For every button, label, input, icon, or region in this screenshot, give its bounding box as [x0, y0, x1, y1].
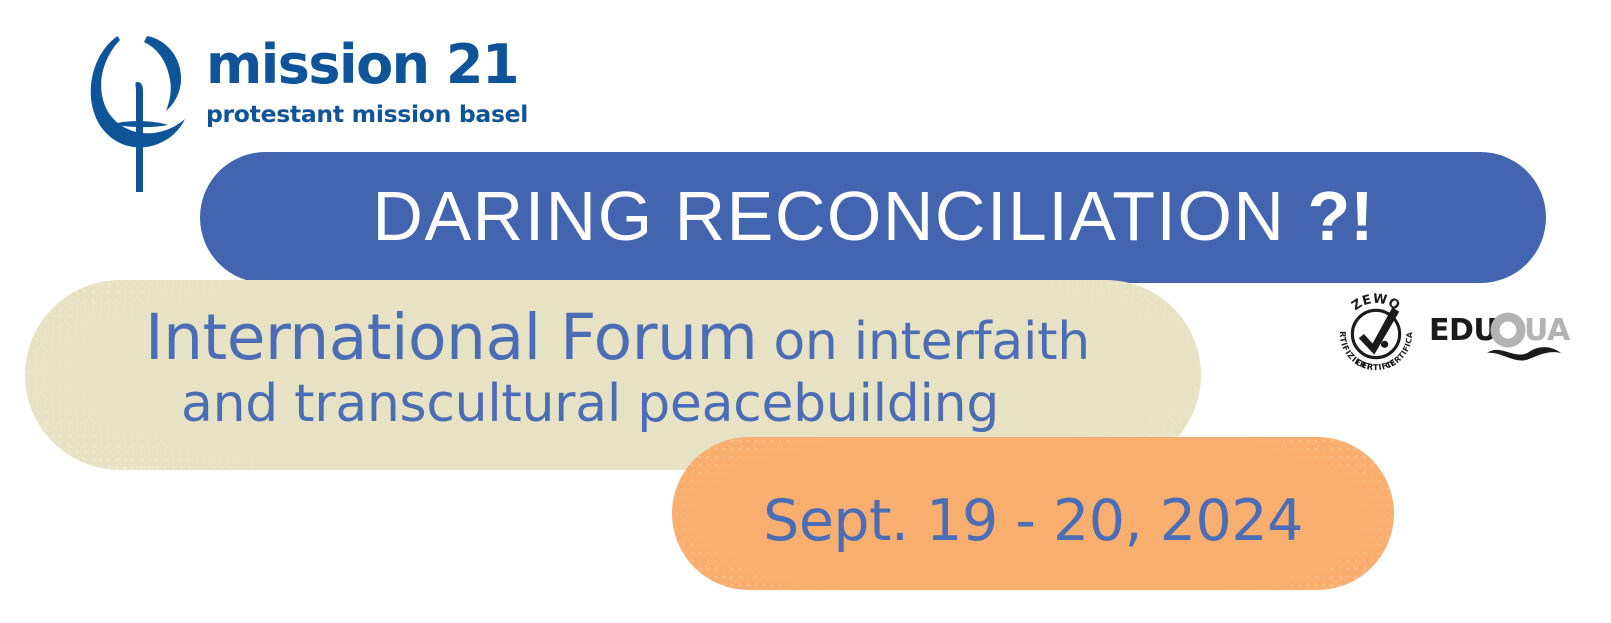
subtitle-line-2: and transcultural peacebuilding	[181, 378, 1155, 431]
subtitle-line-1-rest: on interfaith	[773, 312, 1090, 372]
eduqua-logo-icon: EDU UA	[1429, 303, 1581, 365]
headline-band-blue: DARING RECONCILIATION ?!	[200, 152, 1546, 283]
mission-21-wordmark: mission 21	[206, 38, 506, 92]
headline-main: DARING RECONCILIATION	[372, 176, 1285, 256]
headline-text: DARING RECONCILIATION ?!	[200, 152, 1546, 283]
date-band-orange: Sept. 19 - 20, 2024	[672, 437, 1394, 590]
mission-21-tagline: protestant mission basel	[206, 103, 492, 127]
headline-punctuation: ?!	[1307, 176, 1373, 256]
certification-seals: ZEWO CERTIFIE ZERTIFIZIERT CERTIFICATO E…	[1333, 291, 1583, 377]
subtitle-line-1: International Forumon interfaith	[145, 306, 1155, 370]
mission-21-wordmark-group: mission 21 protestant mission basel	[206, 38, 506, 127]
svg-text:EDU: EDU	[1429, 313, 1497, 348]
svg-text:UA: UA	[1524, 313, 1571, 348]
subtitle-text: International Forumon interfaith and tra…	[145, 306, 1155, 431]
event-banner: mission 21 protestant mission basel DARI…	[0, 0, 1611, 623]
zewo-seal-icon: ZEWO CERTIFIE ZERTIFIZIERT CERTIFICATO	[1333, 291, 1419, 377]
mission-21-figure-mark-icon	[84, 28, 194, 198]
event-date: Sept. 19 - 20, 2024	[672, 437, 1394, 590]
subtitle-emphasis: International Forum	[145, 301, 757, 374]
